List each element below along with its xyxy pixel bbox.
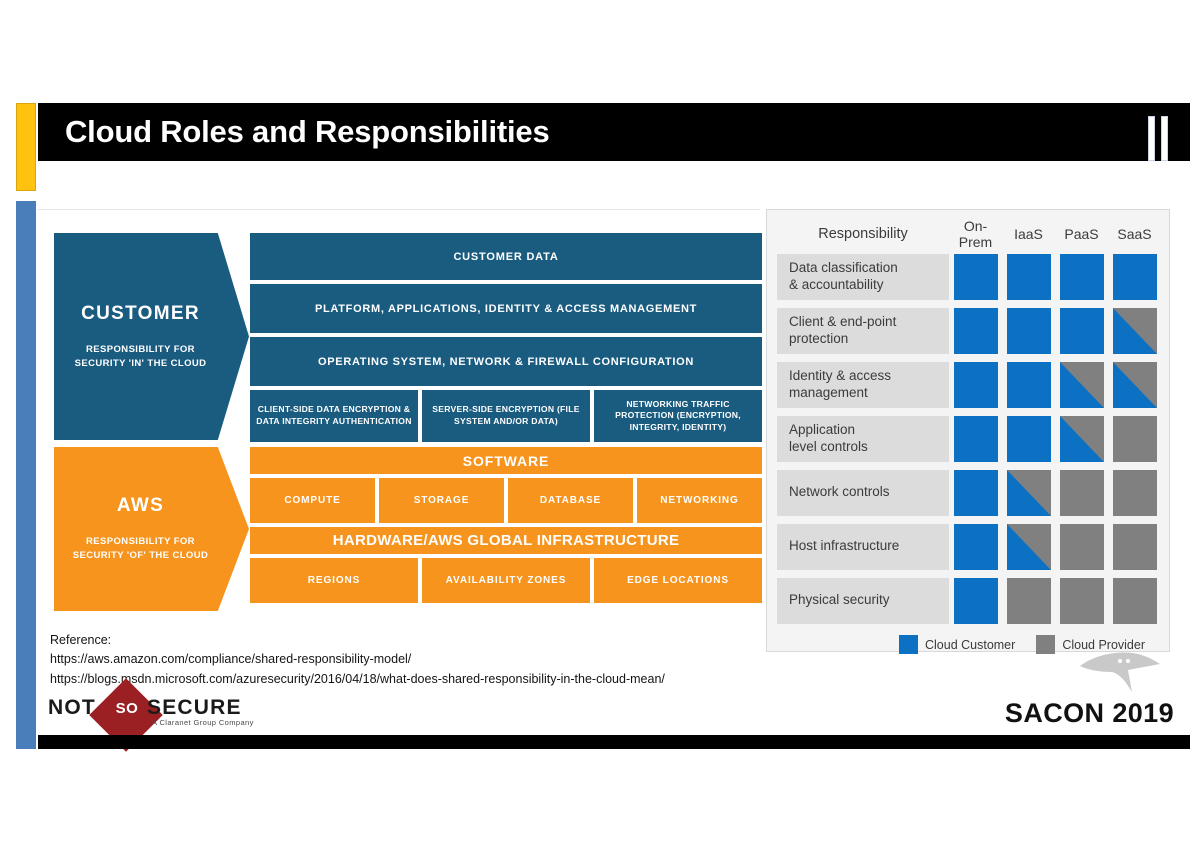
- matrix-cell-iaas-split: [1007, 524, 1051, 570]
- reference-link-aws[interactable]: https://aws.amazon.com/compliance/shared…: [50, 650, 665, 669]
- aws-shared-responsibility-diagram: CUSTOMER RESPONSIBILITY FOR SECURITY 'IN…: [38, 209, 760, 628]
- matrix-cell-wrapper: [1108, 524, 1161, 570]
- matrix-cell-wrapper: [1002, 524, 1055, 570]
- matrix-cell-wrapper: [1108, 254, 1161, 300]
- footer-bar: [38, 735, 1190, 749]
- matrix-cell-wrapper: [1002, 362, 1055, 408]
- matrix-header-responsibility: Responsibility: [777, 226, 949, 242]
- aws-chevron-label: AWS RESPONSIBILITY FOR SECURITY 'OF' THE…: [54, 447, 249, 611]
- logo-word-not: NOT: [48, 696, 96, 720]
- matrix-cell-wrapper: [949, 470, 1002, 516]
- matrix-cell-paas-provider: [1060, 578, 1104, 624]
- matrix-cell-on-prem-customer: [954, 254, 998, 300]
- logo-tagline: A Claranet Group Company: [152, 718, 254, 727]
- matrix-cell-iaas-customer: [1007, 254, 1051, 300]
- matrix-cell-saas-split: [1113, 308, 1157, 354]
- matrix-cell-wrapper: [1108, 578, 1161, 624]
- legend-label-cloud-customer: Cloud Customer: [925, 638, 1015, 652]
- matrix-cell-paas-customer: [1060, 308, 1104, 354]
- matrix-cell-wrapper: [1002, 470, 1055, 516]
- matrix-cell-wrapper: [949, 308, 1002, 354]
- matrix-row: Physical security: [777, 574, 1161, 627]
- aws-services-row: COMPUTE STORAGE DATABASE NETWORKING: [250, 478, 762, 523]
- aws-band-hardware: HARDWARE/AWS GLOBAL INFRASTRUCTURE: [250, 527, 762, 554]
- customer-layer-data: CUSTOMER DATA: [250, 233, 762, 280]
- matrix-cell-paas-split: [1060, 416, 1104, 462]
- matrix-cell-wrapper: [1002, 416, 1055, 462]
- aws-infrastructure-row: REGIONS AVAILABILITY ZONES EDGE LOCATION…: [250, 558, 762, 603]
- matrix-cell-wrapper: [1002, 578, 1055, 624]
- matrix-cell-wrapper: [1055, 254, 1108, 300]
- matrix-cell-saas-customer: [1113, 254, 1157, 300]
- customer-section: CUSTOMER RESPONSIBILITY FOR SECURITY 'IN…: [54, 233, 766, 442]
- matrix-row-label: Physical security: [777, 578, 949, 624]
- aws-infra-availability-zones: AVAILABILITY ZONES: [422, 558, 590, 603]
- legend-swatch-cloud-customer: [899, 635, 918, 654]
- matrix-cell-wrapper: [1108, 362, 1161, 408]
- logo-word-secure: SECURE: [147, 696, 242, 720]
- matrix-cell-wrapper: [1002, 254, 1055, 300]
- matrix-row: Network controls: [777, 466, 1161, 519]
- matrix-cell-wrapper: [1055, 470, 1108, 516]
- matrix-cell-on-prem-customer: [954, 578, 998, 624]
- matrix-row: Application level controls: [777, 412, 1161, 465]
- matrix-row-label: Application level controls: [777, 416, 949, 462]
- customer-encryption-row: CLIENT-SIDE DATA ENCRYPTION & DATA INTEG…: [250, 390, 762, 442]
- aws-service-storage: STORAGE: [379, 478, 504, 523]
- matrix-cell-wrapper: [1055, 416, 1108, 462]
- matrix-cell-iaas-customer: [1007, 416, 1051, 462]
- matrix-cell-on-prem-customer: [954, 470, 998, 516]
- customer-cell-server-side: SERVER-SIDE ENCRYPTION (FILE SYSTEM AND/…: [422, 390, 590, 442]
- aws-service-networking: NETWORKING: [637, 478, 762, 523]
- notsosecure-logo: NOT SO SECURE A Claranet Group Company: [48, 693, 268, 733]
- aws-infra-regions: REGIONS: [250, 558, 418, 603]
- aws-service-database: DATABASE: [508, 478, 633, 523]
- matrix-cell-on-prem-customer: [954, 308, 998, 354]
- matrix-cell-wrapper: [1055, 362, 1108, 408]
- matrix-cell-on-prem-customer: [954, 362, 998, 408]
- sacon-shark-icon: [1076, 648, 1162, 694]
- matrix-cell-saas-provider: [1113, 416, 1157, 462]
- matrix-header-on-prem: On-Prem: [949, 218, 1002, 250]
- matrix-cell-iaas-split: [1007, 470, 1051, 516]
- matrix-row-label: Identity & access management: [777, 362, 949, 408]
- matrix-row: Client & end-point protection: [777, 304, 1161, 357]
- aws-band-software: SOFTWARE: [250, 447, 762, 474]
- matrix-cell-on-prem-customer: [954, 524, 998, 570]
- matrix-cell-saas-provider: [1113, 470, 1157, 516]
- reference-heading: Reference:: [50, 631, 665, 650]
- customer-cell-networking: NETWORKING TRAFFIC PROTECTION (ENCRYPTIO…: [594, 390, 762, 442]
- matrix-header-row: Responsibility On-Prem IaaS PaaS SaaS: [777, 218, 1161, 250]
- matrix-cell-wrapper: [1002, 308, 1055, 354]
- matrix-cell-wrapper: [1108, 416, 1161, 462]
- matrix-row-label: Host infrastructure: [777, 524, 949, 570]
- customer-layer-os: OPERATING SYSTEM, NETWORK & FIREWALL CON…: [250, 337, 762, 386]
- matrix-cell-wrapper: [949, 416, 1002, 462]
- matrix-cell-iaas-provider: [1007, 578, 1051, 624]
- matrix-row: Host infrastructure: [777, 520, 1161, 573]
- legend-swatch-cloud-provider: [1036, 635, 1055, 654]
- pause-bars-logo-icon: [1148, 116, 1168, 161]
- matrix-cell-saas-provider: [1113, 578, 1157, 624]
- matrix-header-saas: SaaS: [1108, 226, 1161, 242]
- accent-bar-gold: [16, 103, 36, 191]
- accent-bar-blue: [16, 201, 36, 749]
- matrix-cell-wrapper: [1108, 308, 1161, 354]
- aws-infra-edge-locations: EDGE LOCATIONS: [594, 558, 762, 603]
- matrix-row: Data classification & accountability: [777, 250, 1161, 303]
- customer-subtitle: RESPONSIBILITY FOR SECURITY 'IN' THE CLO…: [75, 343, 207, 371]
- matrix-cell-paas-split: [1060, 362, 1104, 408]
- matrix-row-label: Data classification & accountability: [777, 254, 949, 300]
- matrix-cell-wrapper: [949, 362, 1002, 408]
- reference-link-azure[interactable]: https://blogs.msdn.microsoft.com/azurese…: [50, 670, 665, 689]
- logo-word-so: SO: [111, 700, 143, 716]
- customer-layer-platform: PLATFORM, APPLICATIONS, IDENTITY & ACCES…: [250, 284, 762, 333]
- matrix-header-iaas: IaaS: [1002, 226, 1055, 242]
- matrix-cell-wrapper: [949, 524, 1002, 570]
- matrix-cell-saas-provider: [1113, 524, 1157, 570]
- matrix-cell-iaas-customer: [1007, 362, 1051, 408]
- aws-title: AWS: [117, 495, 164, 517]
- matrix-cell-wrapper: [1055, 308, 1108, 354]
- matrix-row-label: Network controls: [777, 470, 949, 516]
- customer-title: CUSTOMER: [81, 303, 200, 325]
- page-title: Cloud Roles and Responsibilities: [65, 114, 550, 150]
- customer-chevron-label: CUSTOMER RESPONSIBILITY FOR SECURITY 'IN…: [54, 233, 249, 440]
- matrix-cell-paas-provider: [1060, 524, 1104, 570]
- responsibility-matrix: Responsibility On-Prem IaaS PaaS SaaS Da…: [766, 209, 1170, 652]
- matrix-cell-paas-customer: [1060, 254, 1104, 300]
- reference-block: Reference: https://aws.amazon.com/compli…: [50, 631, 665, 689]
- matrix-cell-wrapper: [1055, 578, 1108, 624]
- matrix-cell-paas-provider: [1060, 470, 1104, 516]
- matrix-header-paas: PaaS: [1055, 226, 1108, 242]
- matrix-cell-wrapper: [949, 578, 1002, 624]
- matrix-row: Identity & access management: [777, 358, 1161, 411]
- aws-section: AWS RESPONSIBILITY FOR SECURITY 'OF' THE…: [54, 447, 766, 611]
- sacon-event-label: SACON 2019: [1005, 698, 1174, 729]
- matrix-row-label: Client & end-point protection: [777, 308, 949, 354]
- matrix-cell-on-prem-customer: [954, 416, 998, 462]
- aws-subtitle: RESPONSIBILITY FOR SECURITY 'OF' THE CLO…: [73, 535, 208, 563]
- matrix-cell-wrapper: [1055, 524, 1108, 570]
- matrix-cell-iaas-customer: [1007, 308, 1051, 354]
- matrix-cell-saas-split: [1113, 362, 1157, 408]
- aws-service-compute: COMPUTE: [250, 478, 375, 523]
- matrix-cell-wrapper: [949, 254, 1002, 300]
- slide-title-bar: Cloud Roles and Responsibilities: [38, 103, 1190, 161]
- matrix-cell-wrapper: [1108, 470, 1161, 516]
- matrix-body: Data classification & accountabilityClie…: [777, 250, 1161, 628]
- customer-cell-client-side: CLIENT-SIDE DATA ENCRYPTION & DATA INTEG…: [250, 390, 418, 442]
